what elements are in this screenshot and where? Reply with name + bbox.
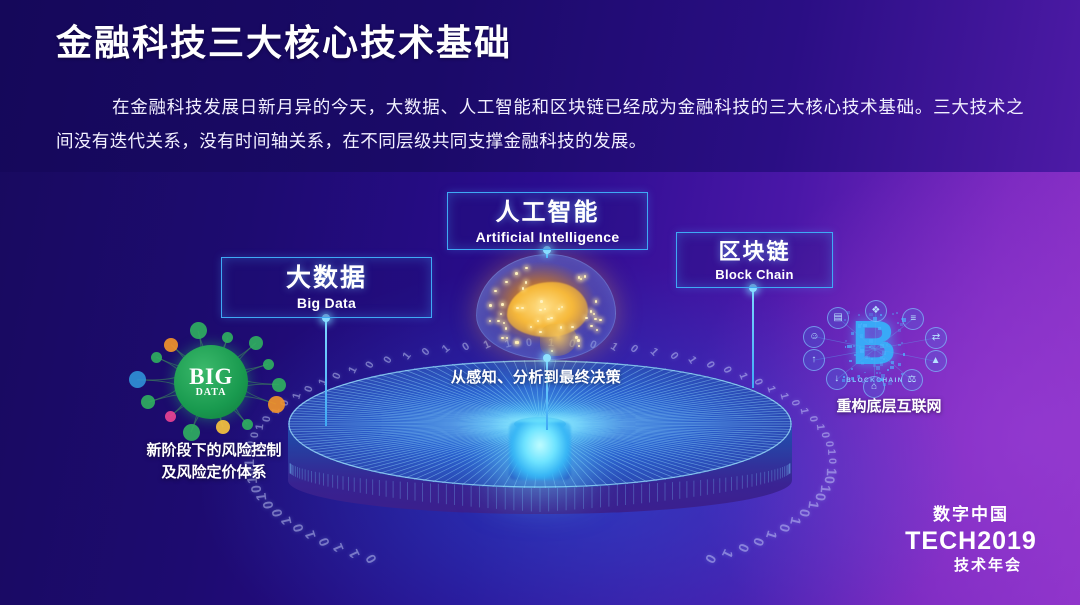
pillar-label-block-chain[interactable]: 区块链 Block Chain bbox=[676, 232, 833, 288]
blockchain-pixel bbox=[858, 324, 861, 327]
connector-ai-top bbox=[546, 250, 548, 258]
brain-spark bbox=[578, 276, 581, 279]
brain-spark bbox=[489, 304, 492, 307]
blockchain-pixel bbox=[862, 381, 864, 383]
blockchain-pixel bbox=[871, 345, 875, 349]
blockchain-pixel bbox=[865, 356, 868, 359]
blockchain-pixel bbox=[888, 381, 892, 385]
binary-digit: 0 bbox=[362, 552, 380, 567]
blockchain-pixel bbox=[880, 362, 884, 366]
blockchain-node: ☺ bbox=[803, 326, 825, 348]
big-data-badge-bottom: DATA bbox=[196, 387, 227, 399]
blockchain-pixel bbox=[883, 383, 886, 386]
connector-block-chain bbox=[752, 288, 754, 388]
big-data-node bbox=[268, 396, 285, 413]
slide-canvas: 金融科技三大核心技术基础 在金融科技发展日新月异的今天，大数据、人工智能和区块链… bbox=[0, 0, 1080, 605]
blockchain-pixel bbox=[851, 332, 855, 336]
brain-spark bbox=[505, 281, 508, 284]
big-data-node bbox=[249, 336, 263, 350]
brain-spark bbox=[590, 310, 593, 313]
blockchain-pixel bbox=[845, 346, 847, 348]
binary-digit: 0 bbox=[823, 440, 835, 447]
blockchain-node: ⚖ bbox=[901, 369, 923, 391]
blockchain-node: ↑ bbox=[803, 349, 825, 371]
brain-spark bbox=[515, 272, 518, 275]
logo-line-annual-conference: 技术年会 bbox=[930, 555, 1046, 577]
blockchain-pixel bbox=[854, 354, 856, 356]
blockchain-pixel bbox=[880, 314, 882, 316]
brain-spark bbox=[560, 326, 563, 329]
pillar-label-block-chain-en: Block Chain bbox=[677, 265, 832, 284]
big-data-node bbox=[164, 338, 178, 352]
blockchain-pixel bbox=[898, 329, 901, 332]
brain-spark bbox=[540, 300, 543, 303]
brain-spark bbox=[550, 317, 553, 320]
body-paragraph: 在金融科技发展日新月异的今天，大数据、人工智能和区块链已经成为金融科技的三大核心… bbox=[56, 90, 1024, 158]
pillar-label-ai-cn: 人工智能 bbox=[448, 199, 647, 227]
blockchain-pixel bbox=[858, 314, 860, 316]
binary-digit: 0 bbox=[260, 500, 277, 510]
blockchain-pixel bbox=[887, 342, 889, 344]
brain-spark bbox=[596, 329, 599, 332]
blockchain-node: ≡ bbox=[902, 308, 924, 330]
blockchain-pixel bbox=[891, 361, 895, 365]
blockchain-pixel bbox=[880, 378, 883, 381]
brain-spark bbox=[595, 300, 598, 303]
binary-digit: 1 bbox=[813, 423, 826, 431]
blockchain-pixel bbox=[869, 313, 872, 316]
blockchain-pixel bbox=[850, 345, 853, 348]
blockchain-pixel bbox=[880, 344, 884, 348]
pillar-label-big-data-en: Big Data bbox=[222, 293, 431, 313]
blockchain-pixel bbox=[851, 368, 853, 370]
brain-spark bbox=[539, 331, 542, 334]
blockchain-pixel bbox=[860, 334, 863, 337]
pillar-label-ai-en: Artificial Intelligence bbox=[448, 227, 647, 247]
big-data-node bbox=[183, 424, 200, 441]
binary-digit: 1 bbox=[824, 467, 840, 475]
brain-spark bbox=[494, 290, 497, 293]
brain-spark bbox=[522, 287, 525, 290]
blockchain-node: ▲ bbox=[925, 350, 947, 372]
connector-big-data bbox=[325, 318, 327, 426]
binary-digit: 1 bbox=[719, 547, 737, 561]
big-data-node bbox=[272, 378, 286, 392]
blockchain-pixel bbox=[897, 322, 899, 324]
blockchain-pixel bbox=[864, 372, 866, 374]
blockchain-pixel bbox=[843, 376, 845, 378]
brain-spark bbox=[515, 341, 518, 344]
blockchain-pixel bbox=[898, 363, 900, 365]
binary-digit: 0 bbox=[819, 432, 831, 439]
binary-digit: 1 bbox=[345, 547, 363, 561]
brain-spark bbox=[590, 325, 593, 328]
blockchain-pixel bbox=[879, 372, 881, 374]
big-data-node bbox=[165, 411, 176, 422]
blockchain-pixel bbox=[880, 356, 883, 359]
logo-line-tech-2019: TECH2019 bbox=[896, 527, 1046, 555]
binary-digit: 1 bbox=[329, 541, 347, 554]
big-data-badge-top: BIG bbox=[189, 366, 233, 387]
blockchain-pixel bbox=[882, 351, 886, 355]
blockchain-pixel bbox=[857, 375, 861, 379]
blockchain-pixel bbox=[845, 340, 847, 342]
binary-digit: 0 bbox=[806, 415, 819, 423]
blockchain-pixel bbox=[847, 311, 850, 314]
brain-icon bbox=[476, 254, 616, 360]
pillar-label-big-data-cn: 大数据 bbox=[222, 264, 431, 293]
caption-big-data: 新阶段下的风险控制 及风险定价体系 bbox=[108, 440, 320, 484]
brain-spark bbox=[585, 317, 588, 320]
big-data-node bbox=[151, 352, 162, 363]
brain-spark bbox=[497, 320, 500, 323]
blockchain-pixel bbox=[901, 342, 903, 344]
big-data-node bbox=[242, 419, 253, 430]
blockchain-pixel bbox=[849, 360, 852, 363]
blockchain-pixel bbox=[876, 366, 880, 370]
brain-spark bbox=[489, 320, 492, 323]
binary-digit: 1 bbox=[805, 500, 822, 510]
brain-spark bbox=[525, 267, 528, 270]
blockchain-pixel bbox=[881, 374, 885, 378]
big-data-node bbox=[190, 322, 207, 339]
blockchain-pixel bbox=[901, 318, 903, 320]
blockchain-pixel bbox=[861, 362, 864, 365]
brain-spark bbox=[501, 303, 504, 306]
big-data-node bbox=[263, 359, 274, 370]
brain-spark bbox=[521, 307, 524, 310]
blockchain-pixel bbox=[853, 380, 855, 382]
binary-digit: 0 bbox=[822, 476, 838, 485]
blockchain-pixel bbox=[903, 353, 906, 356]
blockchain-pixel bbox=[892, 313, 894, 315]
blockchain-pixel bbox=[874, 350, 876, 352]
caption-big-data-line1: 新阶段下的风险控制 bbox=[108, 440, 320, 462]
page-title: 金融科技三大核心技术基础 bbox=[56, 14, 512, 66]
brain-spark bbox=[599, 319, 602, 322]
blockchain-pixel bbox=[890, 366, 894, 370]
big-data-badge: BIG DATA bbox=[174, 345, 248, 419]
blockchain-pixel bbox=[901, 373, 903, 375]
disc-core-glow bbox=[509, 422, 571, 480]
blockchain-pixel bbox=[869, 339, 873, 343]
brain-spark bbox=[577, 339, 580, 342]
binary-digit: 1 bbox=[825, 449, 837, 455]
blockchain-pixel bbox=[842, 379, 845, 382]
binary-digit: 0 bbox=[248, 484, 265, 493]
blockchain-pixel bbox=[883, 358, 885, 360]
brain-spark bbox=[505, 327, 508, 330]
big-data-icon-cluster: BIG DATA bbox=[126, 322, 294, 444]
blockchain-pixel bbox=[873, 317, 877, 321]
big-data-node bbox=[129, 371, 146, 388]
blockchain-pixel bbox=[861, 323, 863, 325]
blockchain-pixel bbox=[853, 345, 855, 347]
brain-spark bbox=[525, 281, 528, 284]
binary-digit: 0 bbox=[812, 492, 829, 502]
blockchain-pixel bbox=[886, 344, 888, 346]
caption-block-chain: 重构底层互联网 bbox=[800, 395, 978, 416]
pillar-label-artificial-intelligence[interactable]: 人工智能 Artificial Intelligence bbox=[447, 192, 648, 250]
binary-digit: 0 bbox=[826, 458, 838, 464]
blockchain-pixel bbox=[887, 369, 889, 371]
pillar-label-big-data[interactable]: 大数据 Big Data bbox=[221, 257, 432, 318]
blockchain-icon-cluster: B BLOCKCHAIN ⇄▲⚖⌂↓↑☺▤❖≡ bbox=[797, 303, 953, 399]
blockchain-pixel bbox=[863, 324, 866, 327]
blockchain-pixel bbox=[860, 349, 864, 353]
blockchain-pixel bbox=[871, 358, 873, 360]
blockchain-pixel bbox=[844, 319, 847, 322]
binary-digit: 1 bbox=[818, 484, 835, 493]
caption-big-data-line2: 及风险定价体系 bbox=[108, 462, 320, 484]
event-logo: 数字中国 TECH2019 技术年会 bbox=[896, 503, 1046, 577]
caption-artificial-intelligence: 从感知、分析到最终决策 bbox=[430, 366, 642, 387]
binary-digit: 0 bbox=[702, 552, 720, 567]
pillar-label-block-chain-cn: 区块链 bbox=[677, 239, 832, 265]
blockchain-pixel bbox=[900, 323, 903, 326]
binary-digit: 0 bbox=[735, 541, 753, 554]
brain-spark bbox=[571, 326, 574, 329]
binary-digit: 1 bbox=[253, 492, 270, 502]
brain-spark bbox=[501, 337, 504, 340]
blockchain-pixel bbox=[878, 327, 881, 330]
brain-spark bbox=[503, 322, 506, 325]
blockchain-pixel bbox=[896, 312, 898, 314]
logo-line-digital-china: 数字中国 bbox=[896, 503, 1046, 527]
blockchain-node: ⇄ bbox=[925, 327, 947, 349]
